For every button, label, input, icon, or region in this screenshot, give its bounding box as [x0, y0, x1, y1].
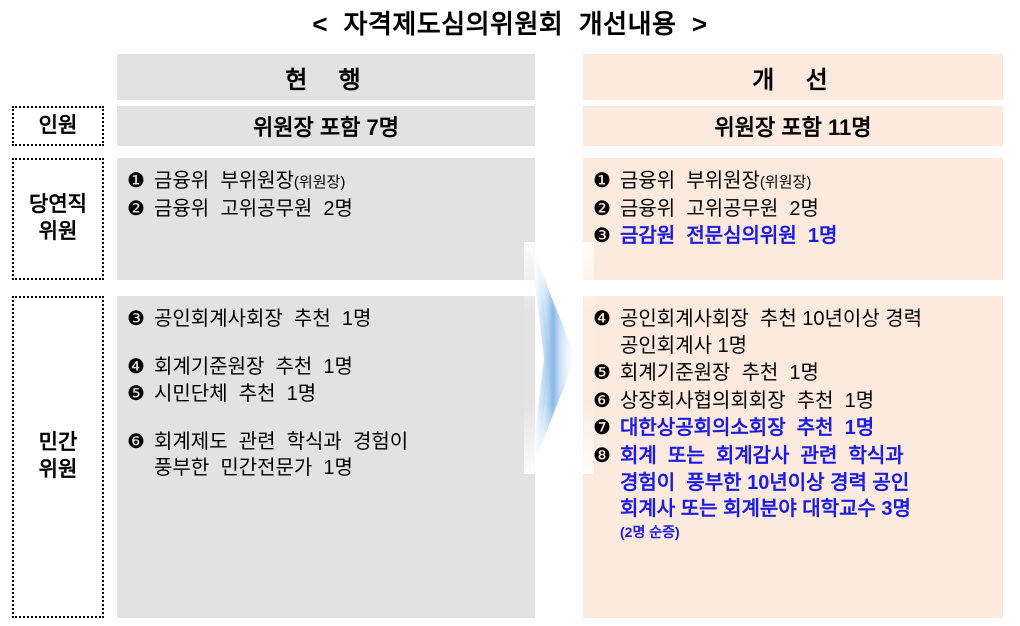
list-item: ❶금융위 부위원장(위원장) [593, 168, 997, 195]
list-item-text: 공인회계사회장 추천 10년이상 경력 공인회계사 1명 [620, 306, 997, 359]
headcount-current-text: 위원장 포함 7명 [117, 106, 535, 146]
list-item-marker: ❼ [593, 415, 620, 442]
row-label-civilian: 민간 위원 [12, 296, 104, 618]
list-item: ❷금융위 고위공무원 2명 [127, 196, 529, 223]
list-item: ❷금융위 고위공무원 2명 [593, 196, 997, 223]
list-item-marker: ❽ [593, 443, 620, 470]
list-item: ❸금감원 전문심의위원 1명 [593, 223, 997, 250]
list-item-marker: ❶ [593, 168, 620, 195]
list-item: ❽회계 또는 회계감사 관련 학식과 경험이 풍부한 10년이상 경력 공인 회… [593, 443, 997, 523]
list-gap [127, 334, 529, 354]
list-item: ❶금융위 부위원장(위원장) [127, 168, 529, 195]
list-item: ❺회계기준원장 추천 1명 [593, 360, 997, 387]
list-item-marker: ❹ [593, 306, 620, 333]
row-label-civilian-text: 민간 위원 [39, 430, 78, 484]
list-item: ❹공인회계사회장 추천 10년이상 경력 공인회계사 1명 [593, 306, 997, 359]
column-header-improved: 개 선 [583, 54, 1003, 100]
headcount-improved-text: 위원장 포함 11명 [583, 106, 1003, 146]
list-item-text: 상장회사협의회회장 추천 1명 [620, 388, 997, 415]
list-item-marker: ❻ [593, 388, 620, 415]
list-item: ❸공인회계사회장 추천 1명 [127, 306, 529, 333]
list-item-text: 금융위 부위원장(위원장) [154, 168, 529, 195]
page-title: < 자격제도심의위원회 개선내용 > [0, 4, 1020, 41]
list-item: ❺시민단체 추천 1명 [127, 381, 529, 408]
civilian-improved-cell: ❹공인회계사회장 추천 10년이상 경력 공인회계사 1명❺회계기준원장 추천 … [583, 296, 1003, 618]
column-header-current-text: 현 행 [117, 54, 535, 100]
list-item-text: 시민단체 추천 1명 [154, 381, 529, 408]
column-header-current: 현 행 [117, 54, 535, 100]
list-item: ❼대한상공회의소회장 추천 1명 [593, 415, 997, 442]
list-item-text: 회계기준원장 추천 1명 [154, 354, 529, 381]
list-item-text: 금감원 전문심의위원 1명 [620, 223, 997, 250]
list-item-marker: ❺ [593, 360, 620, 387]
list-item-marker: ❹ [127, 354, 154, 381]
list-item-text: 회계 또는 회계감사 관련 학식과 경험이 풍부한 10년이상 경력 공인 회계… [620, 443, 997, 523]
list-item-marker: ❺ [127, 381, 154, 408]
list-item-marker: ❷ [593, 196, 620, 223]
headcount-improved-cell: 위원장 포함 11명 [583, 106, 1003, 146]
list-item-text: 금융위 고위공무원 2명 [154, 196, 529, 223]
headcount-current-cell: 위원장 포함 7명 [117, 106, 535, 146]
ex-officio-current-cell: ❶금융위 부위원장(위원장)❷금융위 고위공무원 2명 [117, 158, 535, 280]
row-label-ex-officio: 당연직 위원 [12, 158, 104, 280]
row-label-headcount-text: 인원 [39, 113, 78, 140]
ex-officio-improved-cell: ❶금융위 부위원장(위원장)❷금융위 고위공무원 2명❸금감원 전문심의위원 1… [583, 158, 1003, 280]
list-item-text: 회계기준원장 추천 1명 [620, 360, 997, 387]
list-item-marker: ❷ [127, 196, 154, 223]
row-label-headcount: 인원 [12, 106, 104, 146]
list-item-text: 금융위 고위공무원 2명 [620, 196, 997, 223]
list-gap [127, 409, 529, 429]
list-item-marker: ❸ [127, 306, 154, 333]
list-item: ❻상장회사협의회회장 추천 1명 [593, 388, 997, 415]
list-item-text: 회계제도 관련 학식과 경험이 풍부한 민간전문가 1명 [154, 429, 529, 482]
list-item-marker: ❻ [127, 429, 154, 456]
row-label-ex-officio-text: 당연직 위원 [29, 192, 87, 246]
list-item: ❹회계기준원장 추천 1명 [127, 354, 529, 381]
list-item-note: (2명 순증) [620, 524, 997, 541]
civilian-current-cell: ❸공인회계사회장 추천 1명❹회계기준원장 추천 1명❺시민단체 추천 1명❻회… [117, 296, 535, 618]
document-page: < 자격제도심의위원회 개선내용 > 인원 당연직 위원 민간 위원 현 행 개… [0, 0, 1020, 626]
list-item-text: 금융위 부위원장(위원장) [620, 168, 997, 195]
list-item-text: 대한상공회의소회장 추천 1명 [620, 415, 997, 442]
list-item: ❻회계제도 관련 학식과 경험이 풍부한 민간전문가 1명 [127, 429, 529, 482]
list-item-marker: ❶ [127, 168, 154, 195]
list-item-paren: (위원장) [294, 174, 345, 191]
list-item-paren: (위원장) [760, 174, 811, 191]
list-item-marker: ❸ [593, 223, 620, 250]
column-header-improved-text: 개 선 [583, 54, 1003, 100]
list-item-text: 공인회계사회장 추천 1명 [154, 306, 529, 333]
